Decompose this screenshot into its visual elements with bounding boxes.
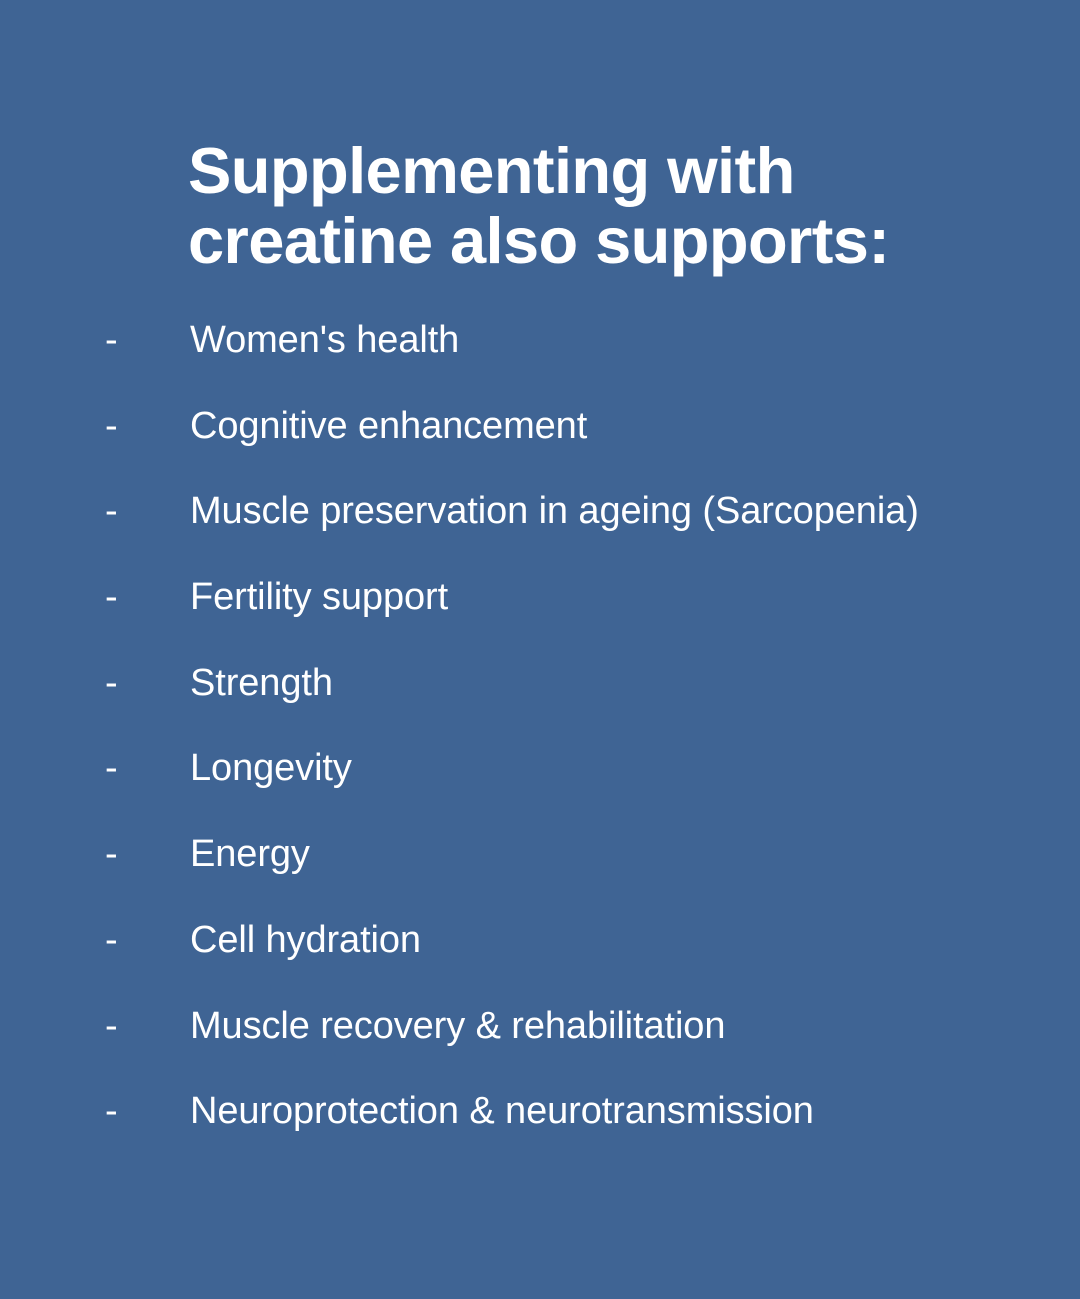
list-item-label: Cell hydration [190,918,1080,962]
list-item: - Fertility support [0,575,1080,661]
page-title: Supplementing with creatine also support… [188,136,1008,276]
list-item: - Cell hydration [0,918,1080,1004]
benefits-list: - Women's health - Cognitive enhancement… [0,318,1080,1175]
list-item-label: Muscle recovery & rehabilitation [190,1004,1080,1048]
list-item: - Energy [0,832,1080,918]
list-item-label: Fertility support [190,575,1080,619]
dash-marker-icon: - [105,489,190,533]
dash-marker-icon: - [105,1004,190,1048]
slide-canvas: Supplementing with creatine also support… [0,0,1080,1299]
list-item-label: Strength [190,661,1080,705]
dash-marker-icon: - [105,318,190,362]
list-item-label: Neuroprotection & neurotransmission [190,1089,1080,1133]
list-item: - Cognitive enhancement [0,404,1080,490]
dash-marker-icon: - [105,575,190,619]
list-item: - Women's health [0,318,1080,404]
list-item: - Muscle preservation in ageing (Sarcope… [0,489,1080,575]
list-item-label: Energy [190,832,1080,876]
list-item: - Muscle recovery & rehabilitation [0,1004,1080,1090]
dash-marker-icon: - [105,832,190,876]
dash-marker-icon: - [105,1089,190,1133]
list-item-label: Cognitive enhancement [190,404,1080,448]
dash-marker-icon: - [105,918,190,962]
dash-marker-icon: - [105,746,190,790]
list-item-label: Muscle preservation in ageing (Sarcopeni… [190,489,1080,533]
list-item: - Strength [0,661,1080,747]
list-item: - Longevity [0,746,1080,832]
list-item-label: Longevity [190,746,1080,790]
list-item-label: Women's health [190,318,1080,362]
dash-marker-icon: - [105,661,190,705]
dash-marker-icon: - [105,404,190,448]
list-item: - Neuroprotection & neurotransmission [0,1089,1080,1175]
